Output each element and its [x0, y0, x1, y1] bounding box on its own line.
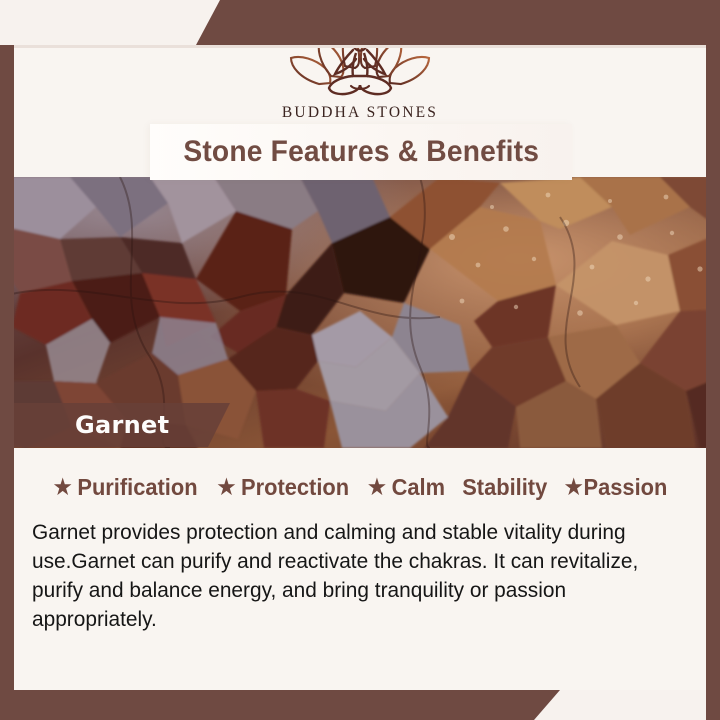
star-icon: ★: [218, 477, 236, 498]
benefit-item: ★Protection: [218, 474, 350, 501]
benefit-label: Purification: [77, 474, 197, 501]
benefit-item: Stability: [462, 474, 547, 501]
stone-name: Garnet: [75, 411, 169, 439]
benefits-list: ★Purification★Protection★CalmStability★P…: [14, 474, 706, 501]
benefit-item: ★Calm: [368, 474, 445, 501]
benefit-item: ★Purification: [54, 474, 198, 501]
stone-description: Garnet provides protection and calming a…: [32, 518, 664, 634]
page-title: Stone Features & Benefits: [183, 135, 539, 169]
star-icon: ★: [54, 477, 72, 498]
benefit-label: Protection: [241, 474, 349, 501]
star-icon: ★: [565, 477, 583, 498]
brand-name: BUDDHA STONES: [282, 104, 438, 122]
stone-name-banner: Garnet: [0, 403, 230, 447]
benefit-label: Stability: [462, 474, 547, 501]
frame-top-bar: [196, 0, 720, 45]
title-banner: Stone Features & Benefits: [150, 124, 572, 180]
benefit-label: Passion: [584, 474, 668, 501]
benefit-label: Calm: [391, 474, 444, 501]
frame-left-bar: [0, 45, 14, 720]
stone-info-card: BUDDHA STONES Stone Features & Benefits: [0, 0, 720, 720]
frame-bottom-bar: [0, 690, 560, 720]
frame-right-bar: [706, 0, 720, 720]
benefit-item: ★Passion: [565, 474, 668, 501]
star-icon: ★: [368, 477, 386, 498]
frame-hairline: [14, 45, 706, 48]
